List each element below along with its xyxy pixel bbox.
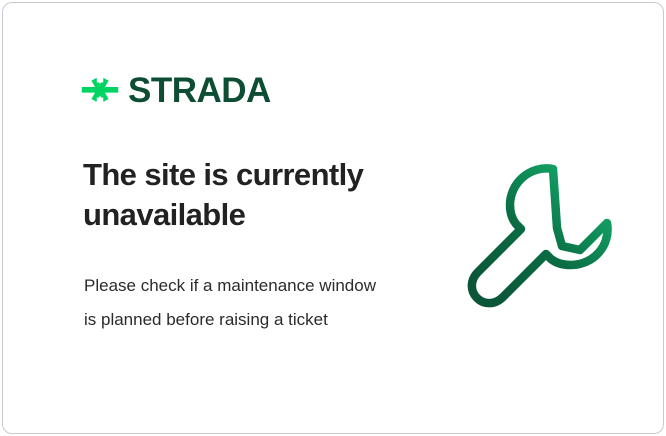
status-card: STRADA The site is currently unavailable… <box>2 2 664 434</box>
brand-lockup: STRADA <box>81 71 271 109</box>
wrench-icon <box>458 155 618 315</box>
page-title: The site is currently unavailable <box>83 155 413 234</box>
page-description: Please check if a maintenance window is … <box>84 269 384 337</box>
strada-asterisk-icon <box>81 71 119 109</box>
maintenance-page: STRADA The site is currently unavailable… <box>0 0 666 436</box>
brand-wordmark: STRADA <box>128 73 271 108</box>
